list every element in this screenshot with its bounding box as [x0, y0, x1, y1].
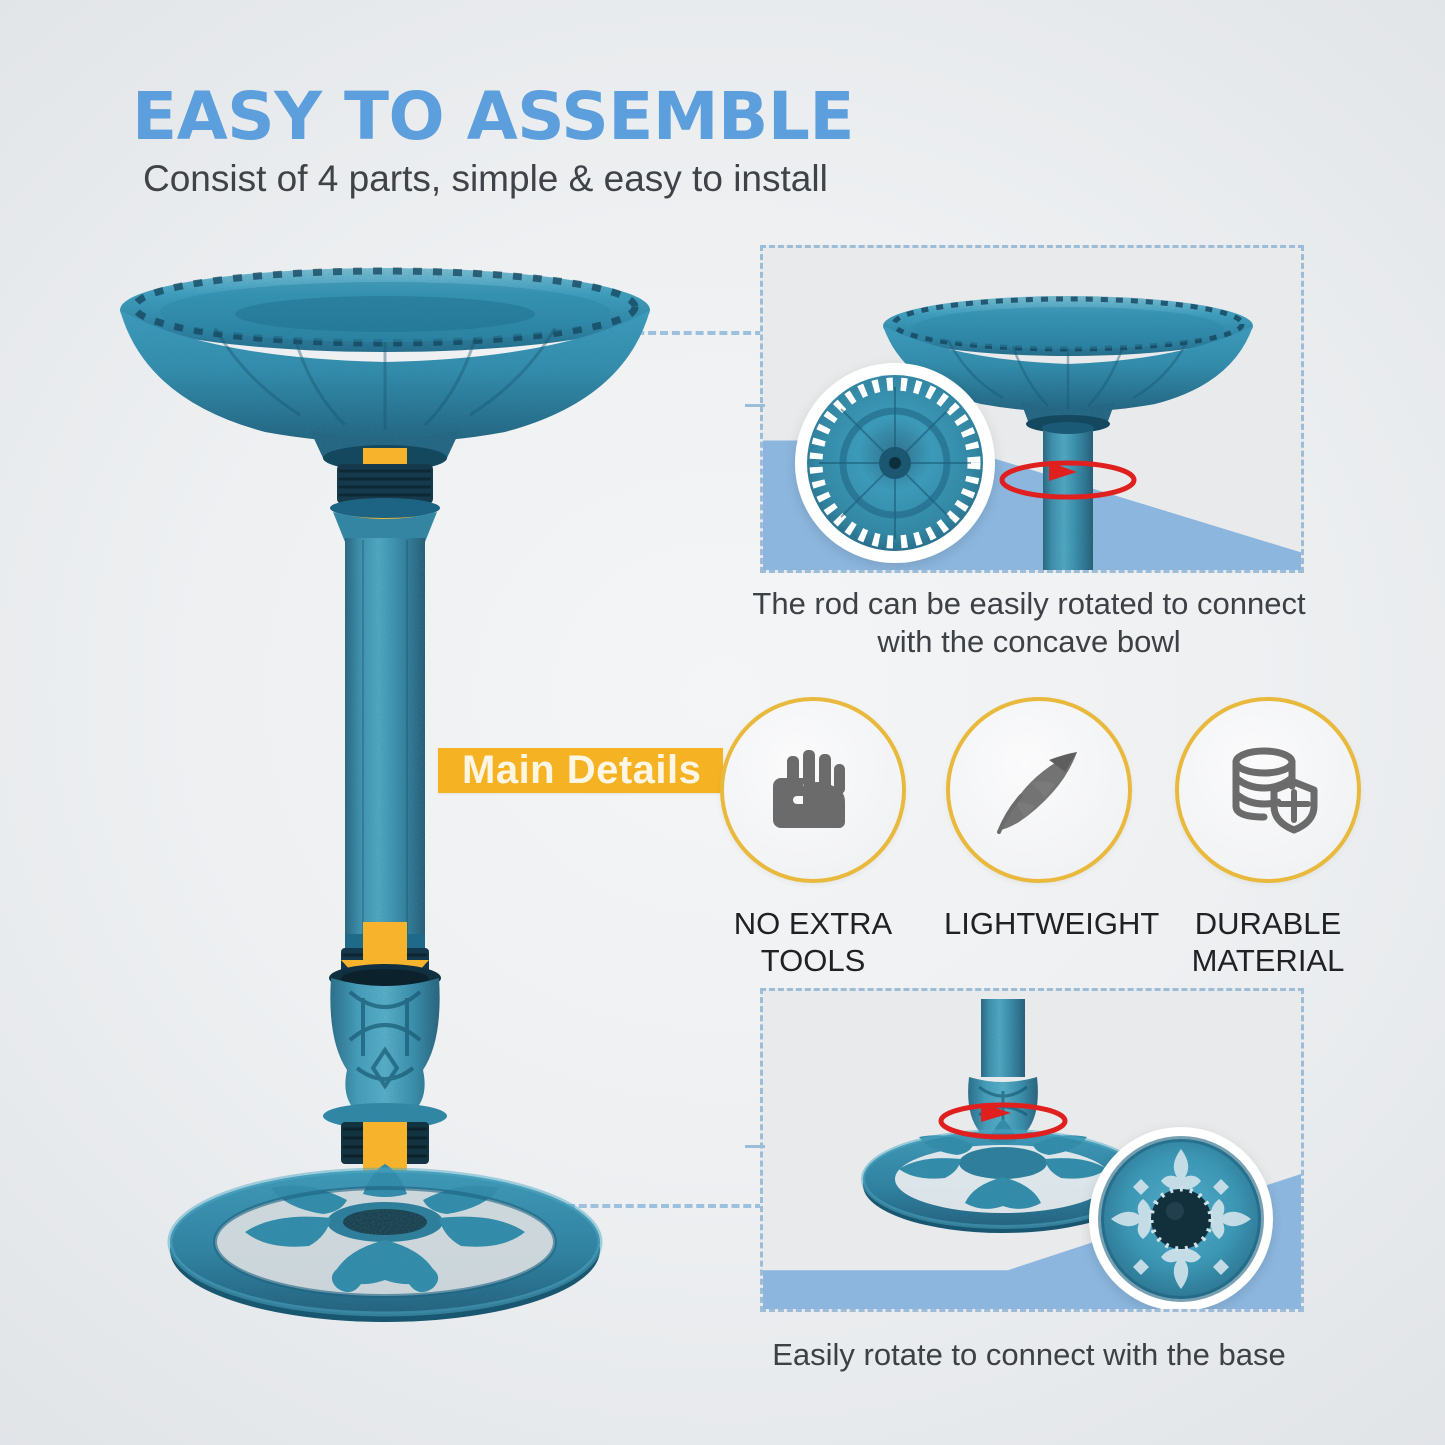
page-title: EASY TO ASSEMBLE: [132, 78, 854, 155]
feature-no-extra-tools: NO EXTRA TOOLS: [718, 697, 908, 979]
birdbath-exploded-view: [95, 250, 675, 1340]
base-top-view-inset: [1081, 1119, 1281, 1309]
feature-ring: [946, 697, 1132, 883]
rod-pole: [330, 464, 440, 988]
feature-label: LIGHTWEIGHT: [944, 905, 1134, 942]
feature-durable-material: DURABLE MATERIAL: [1173, 697, 1363, 979]
main-details-badge: Main Details: [438, 748, 723, 793]
panel-tick-left-top: [745, 404, 765, 407]
infographic-canvas: EASY TO ASSEMBLE Consist of 4 parts, sim…: [0, 0, 1445, 1445]
base-detail-panel: [760, 988, 1304, 1312]
feature-ring: [720, 697, 906, 883]
feature-lightweight: LIGHTWEIGHT: [944, 697, 1134, 942]
base-caption: Easily rotate to connect with the base: [748, 1336, 1310, 1374]
feature-ring: [1175, 697, 1361, 883]
feature-label: DURABLE MATERIAL: [1173, 905, 1363, 979]
page-subtitle: Consist of 4 parts, simple & easy to ins…: [143, 158, 828, 200]
main-details-label: Main Details: [438, 748, 701, 793]
panel-tick-left-bottom: [745, 1145, 765, 1148]
bowl-top-view-inset: [785, 353, 1005, 570]
decorative-base: [170, 1164, 600, 1322]
database-shield-icon: [1216, 738, 1320, 842]
rod-bowl-caption: The rod can be easily rotated to connect…: [748, 585, 1310, 661]
concave-bowl: [120, 268, 650, 471]
feature-label: NO EXTRA TOOLS: [718, 905, 908, 979]
feather-icon: [987, 738, 1091, 842]
rod-bowl-detail-panel: [760, 245, 1304, 573]
fist-hand-icon: [763, 740, 863, 840]
